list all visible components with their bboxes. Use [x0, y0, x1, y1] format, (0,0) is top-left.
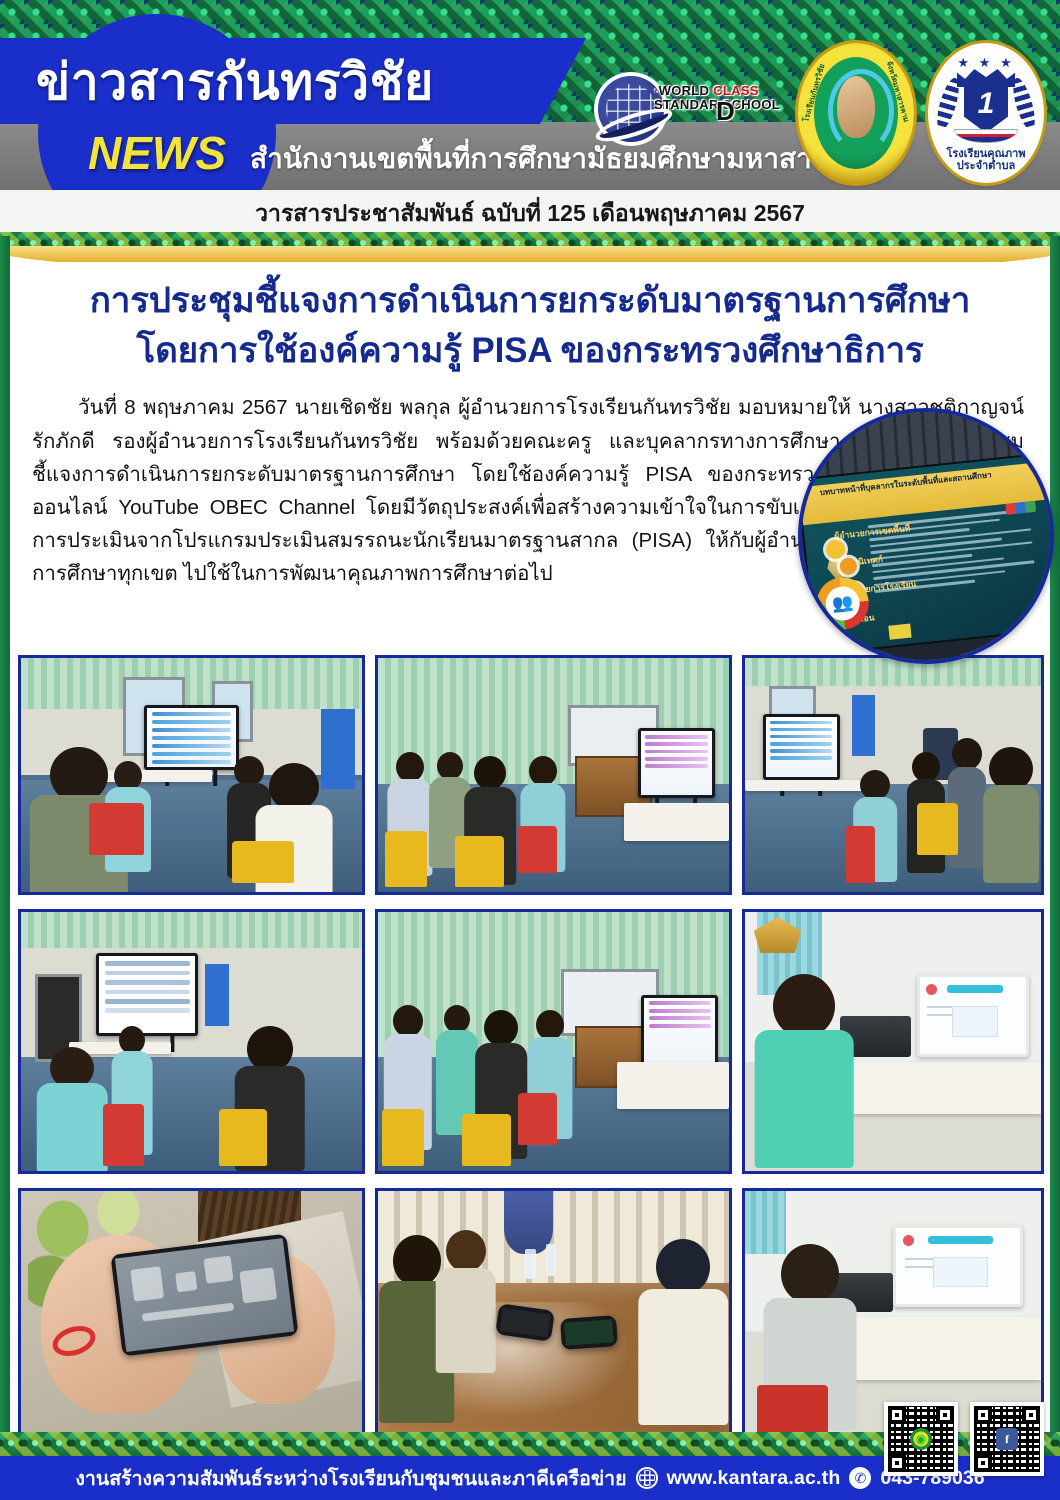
- wcs-big-letter: D: [716, 97, 735, 125]
- shield-numeral: 1: [964, 85, 1008, 133]
- photo-meeting-room-projector-slide: [18, 909, 365, 1174]
- seal-text-right: จังหวัดมหาสารคาม: [883, 59, 912, 123]
- quality-caption-line2: ประจำตำบล: [928, 160, 1044, 173]
- seal-text-left: โรงเรียนกันทรวิชัย: [800, 62, 828, 123]
- people-glyph: 👥: [831, 592, 854, 614]
- issue-line: วารสารประชาสัมพันธ์ ฉบับที่ 125 เดือนพฤษ…: [0, 196, 1060, 232]
- qr-finder-top-right: [1022, 1406, 1040, 1424]
- qr-finder-bottom-left: [888, 1454, 906, 1472]
- qr-code-group: ◉ f: [884, 1402, 1044, 1476]
- seal-ring-text: โรงเรียนกันทรวิชัย จังหวัดมหาสารคาม: [802, 47, 910, 179]
- photo-staff-watching-tv-side: [742, 655, 1044, 895]
- presentation-slide: บทบาทหน้าที่บุคลากรในระดับพื้นที่และสถาน…: [799, 454, 1054, 653]
- kantharawichai-school-seal: โรงเรียนกันทรวิชัย จังหวัดมหาสารคาม: [798, 43, 914, 183]
- crown-icon: [957, 69, 1015, 87]
- wcs-line1a: WORLD: [659, 83, 710, 98]
- page-title: การประชุมชี้แจงการดำเนินการยกระดับมาตรฐา…: [10, 276, 1050, 375]
- footer-website[interactable]: www.kantara.ac.th: [667, 1467, 841, 1490]
- facebook-icon: f: [996, 1428, 1018, 1450]
- newsletter-poster: ข่าวสารกันทรวิชัย NEWS สำนักงานเขตพื้นที…: [0, 0, 1060, 1500]
- footer-text: งานสร้างความสัมพันธ์ระหว่างโรงเรียนกับชุ…: [75, 1463, 626, 1494]
- right-border-strip: [1050, 236, 1060, 1432]
- wcs-line2a: STANDAR: [654, 97, 719, 112]
- phone-icon: ✆: [849, 1467, 871, 1489]
- stars-icon: ★ ★ ★: [928, 55, 1044, 71]
- qr-finder-bottom-left: [974, 1454, 992, 1472]
- photo-meeting-room-rear-view: [18, 655, 365, 895]
- laurel-left-icon: [933, 76, 963, 132]
- photo-teachers-seated-watching-screen: [375, 655, 732, 895]
- inset-scene: บทบาทหน้าที่บุคลากรในระดับพื้นที่และสถาน…: [802, 412, 1050, 660]
- photo-director-desk-computer: [742, 1188, 1044, 1436]
- news-badge: NEWS: [72, 126, 242, 180]
- world-class-text: ·WORLD CLASS STANDAR SCHOOL D: [654, 84, 784, 112]
- left-border-strip: [0, 236, 10, 1432]
- headline-line-2: โดยการใช้องค์ความรู้ PISA ของกระทรวงศึกษ…: [34, 326, 1026, 376]
- quality-caption-line1: โรงเรียนคุณภาพ: [928, 148, 1044, 161]
- quality-school-caption: โรงเรียนคุณภาพ ประจำตำบล: [928, 148, 1044, 173]
- photo-teachers-at-wooden-table: [375, 1188, 732, 1436]
- qr-code-website[interactable]: ◉: [884, 1402, 958, 1476]
- circular-inset-laptop-slide: บทบาทหน้าที่บุคลากรในระดับพื้นที่และสถาน…: [798, 408, 1054, 664]
- world-class-standard-school-logo: ·WORLD CLASS STANDAR SCHOOL D: [598, 74, 784, 152]
- globe-icon: [636, 1467, 658, 1489]
- qr-finder-top-right: [936, 1406, 954, 1424]
- qr-finder-top-left: [888, 1406, 906, 1424]
- qr-finder-top-left: [974, 1406, 992, 1424]
- headline-line-1: การประชุมชี้แจงการดำเนินการยกระดับมาตรฐา…: [34, 276, 1026, 326]
- photo-grid: [18, 655, 1042, 1436]
- masthead-title: ข่าวสารกันทรวิชัย: [36, 44, 536, 120]
- open-book-icon: [954, 129, 1018, 143]
- photo-hand-holding-phone-outdoor: [18, 1188, 365, 1436]
- qr-center-logo-website: ◉: [910, 1428, 932, 1450]
- yellow-sticky-note: [889, 623, 912, 639]
- logo-row: ·WORLD CLASS STANDAR SCHOOL D โรงเรียนกั…: [598, 42, 1044, 184]
- qr-code-facebook[interactable]: f: [970, 1402, 1044, 1476]
- photo-group-seated-full-room: [375, 909, 732, 1174]
- laurel-right-icon: [1009, 76, 1039, 132]
- quality-school-logo: ★ ★ ★ 1 โรงเรียนคุณภาพ ประจำตำบล: [928, 43, 1044, 183]
- photo-director-at-computer: [742, 909, 1044, 1174]
